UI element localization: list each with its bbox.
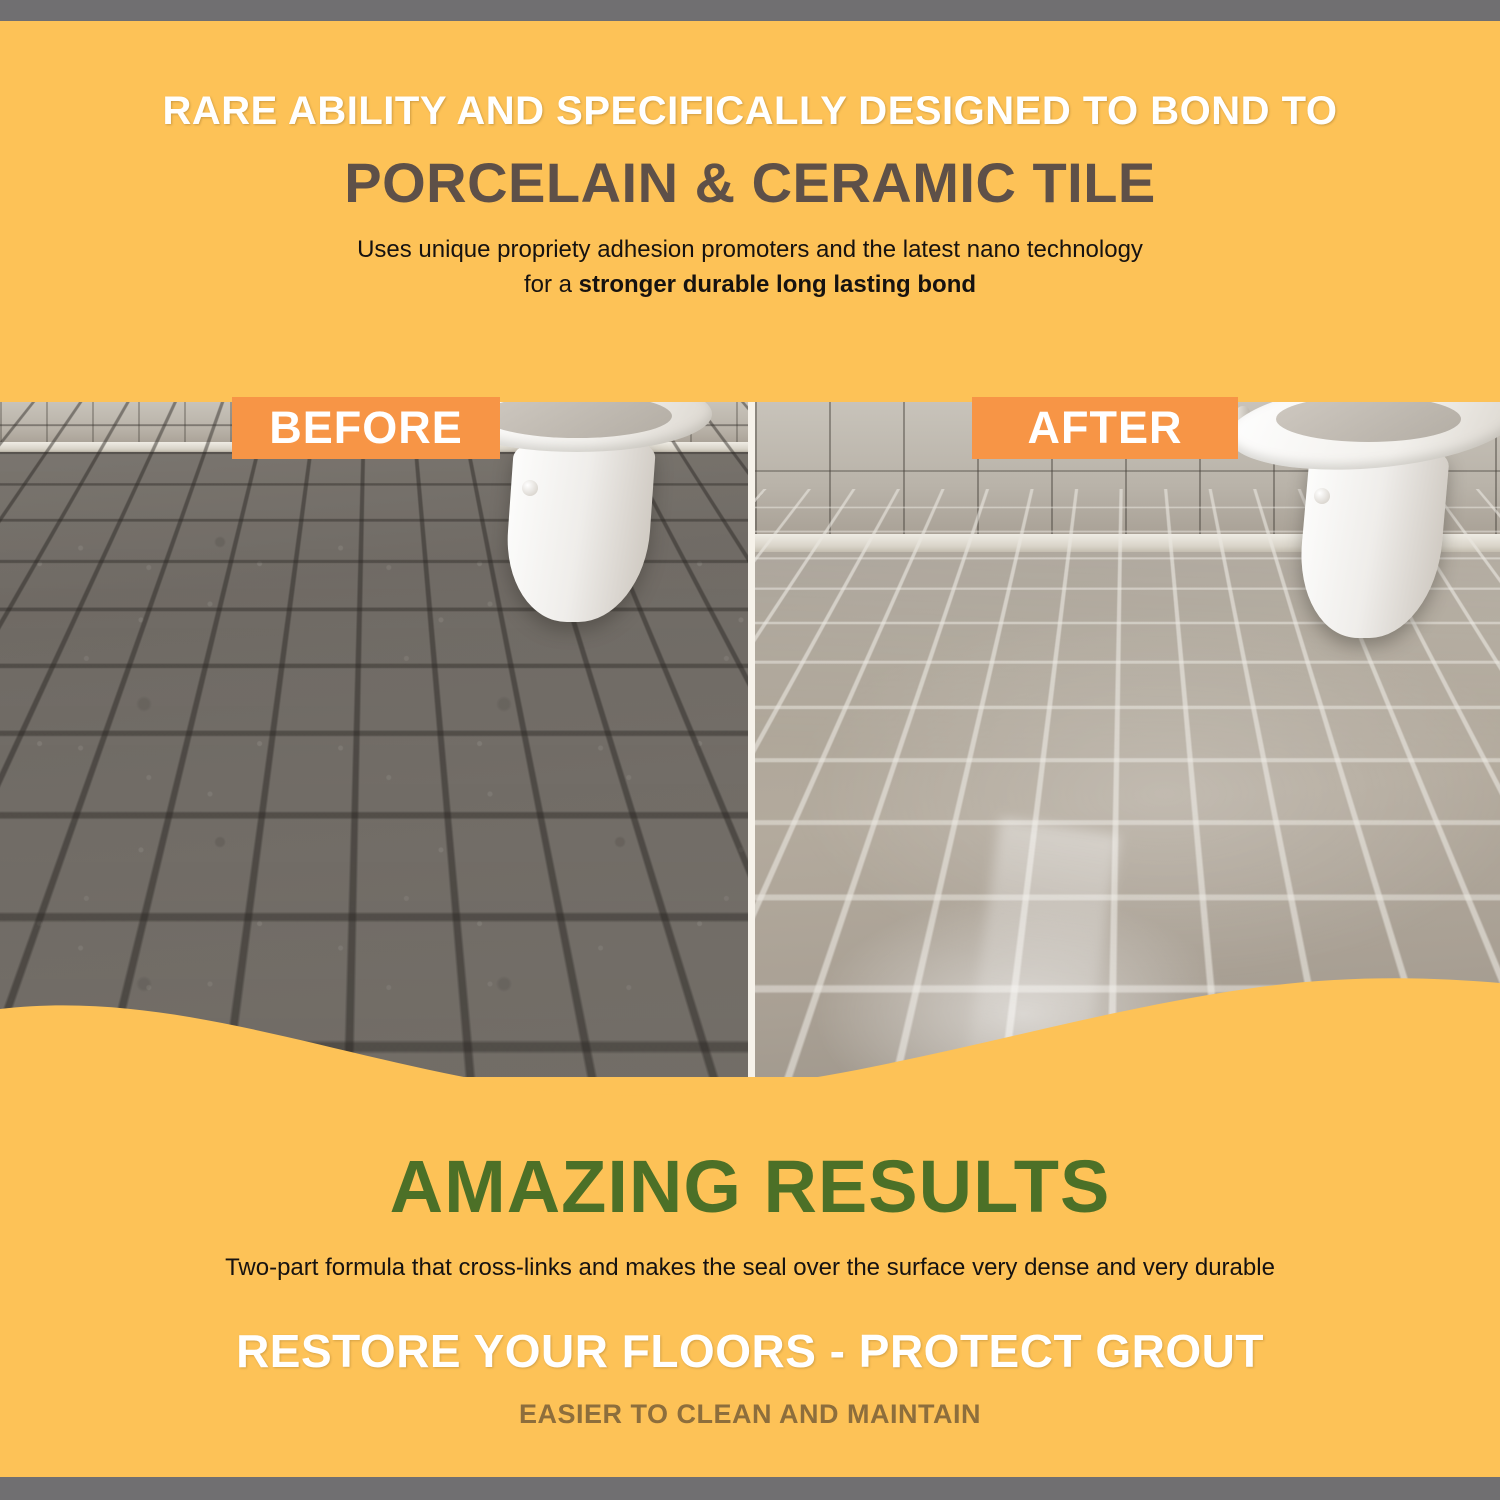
before-badge: BEFORE xyxy=(232,397,500,459)
cta-headline: RESTORE YOUR FLOORS - PROTECT GROUT xyxy=(0,1324,1500,1378)
after-badge: AFTER xyxy=(972,397,1238,459)
infographic-canvas: RARE ABILITY AND SPECIFICALLY DESIGNED T… xyxy=(0,21,1500,1477)
after-badge-label: AFTER xyxy=(1028,402,1183,454)
eyebrow-headline: RARE ABILITY AND SPECIFICALLY DESIGNED T… xyxy=(0,89,1500,134)
after-scene xyxy=(755,402,1500,1077)
bottom-frame-bar xyxy=(0,1477,1500,1500)
lede-line-2-emphasis: stronger durable long lasting bond xyxy=(579,271,976,298)
top-frame-bar xyxy=(0,0,1500,21)
lede-line-1: Uses unique propriety adhesion promoters… xyxy=(0,232,1500,267)
before-scene xyxy=(0,402,748,1077)
lede-paragraph: Uses unique propriety adhesion promoters… xyxy=(0,232,1500,302)
after-toilet-bolt-cap xyxy=(1314,488,1330,504)
photo-divider xyxy=(748,402,755,1077)
before-toilet-bolt-cap xyxy=(522,480,538,496)
results-heading: AMAZING RESULTS xyxy=(0,1144,1500,1229)
before-after-comparison xyxy=(0,402,1500,1077)
after-toilet-base xyxy=(1294,448,1451,638)
cta-subtext: EASIER TO CLEAN AND MAINTAIN xyxy=(0,1399,1500,1430)
results-subtext: Two-part formula that cross-links and ma… xyxy=(0,1254,1500,1282)
before-photo xyxy=(0,402,748,1077)
before-toilet-base xyxy=(502,440,657,622)
lede-line-2: for a stronger durable long lasting bond xyxy=(0,267,1500,302)
after-toilet-fixture xyxy=(1206,402,1500,636)
before-badge-label: BEFORE xyxy=(269,402,463,454)
page-title: PORCELAIN & CERAMIC TILE xyxy=(0,150,1500,215)
after-photo xyxy=(755,402,1500,1077)
lede-line-2-prefix: for a xyxy=(524,271,579,298)
